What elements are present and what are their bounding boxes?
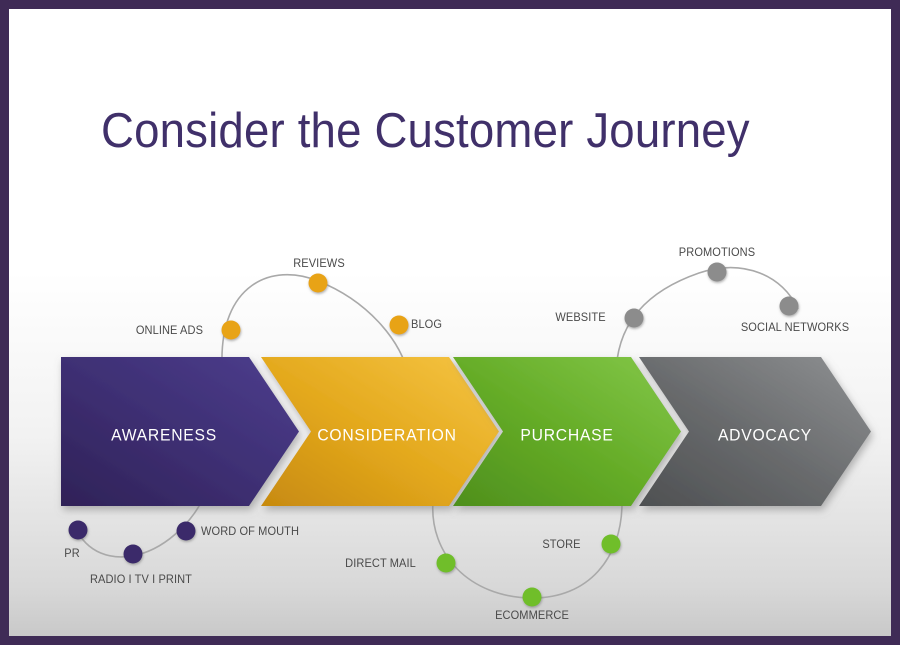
touchpoint-label-word-of-mouth: WORD OF MOUTH (201, 525, 299, 538)
touchpoint-label-online-ads: ONLINE ADS (136, 324, 203, 337)
dot-ecommerce[interactable] (523, 588, 542, 607)
touchpoint-label-ecommerce: ECOMMERCE (480, 609, 585, 622)
dot-website[interactable] (625, 309, 644, 328)
touchpoint-label-promotions: PROMOTIONS (668, 246, 766, 259)
stage-label-purchase: PURCHASE (520, 427, 613, 446)
slide-canvas: Consider the Customer Journey (9, 9, 891, 636)
touchpoint-label-radio-tv-print: RADIO I TV I PRINT (77, 573, 206, 586)
touchpoint-label-direct-mail: DIRECT MAIL (345, 557, 416, 570)
stage-label-advocacy: ADVOCACY (718, 427, 812, 446)
dot-online-ads[interactable] (222, 321, 241, 340)
touchpoint-label-website: WEBSITE (556, 311, 606, 324)
dot-reviews[interactable] (309, 274, 328, 293)
touchpoint-label-social-networks: SOCIAL NETWORKS (736, 321, 854, 334)
stage-label-awareness: AWARENESS (111, 427, 217, 446)
dot-store[interactable] (602, 535, 621, 554)
dot-direct-mail[interactable] (437, 554, 456, 573)
dot-pr[interactable] (69, 521, 88, 540)
dot-radio-tv-print[interactable] (124, 545, 143, 564)
touchpoint-label-reviews: REVIEWS (284, 257, 354, 270)
stage-label-consideration: CONSIDERATION (317, 427, 456, 446)
touchpoint-label-store: STORE (543, 538, 581, 551)
dot-word-of-mouth[interactable] (177, 522, 196, 541)
touchpoint-label-blog: BLOG (411, 318, 442, 331)
touchpoint-label-pr: PR (58, 547, 86, 560)
dot-social-networks[interactable] (780, 297, 799, 316)
dot-promotions[interactable] (708, 263, 727, 282)
arc-purchase-bottom (433, 501, 622, 598)
dot-blog[interactable] (390, 316, 409, 335)
slide: Consider the Customer Journey (0, 0, 900, 645)
